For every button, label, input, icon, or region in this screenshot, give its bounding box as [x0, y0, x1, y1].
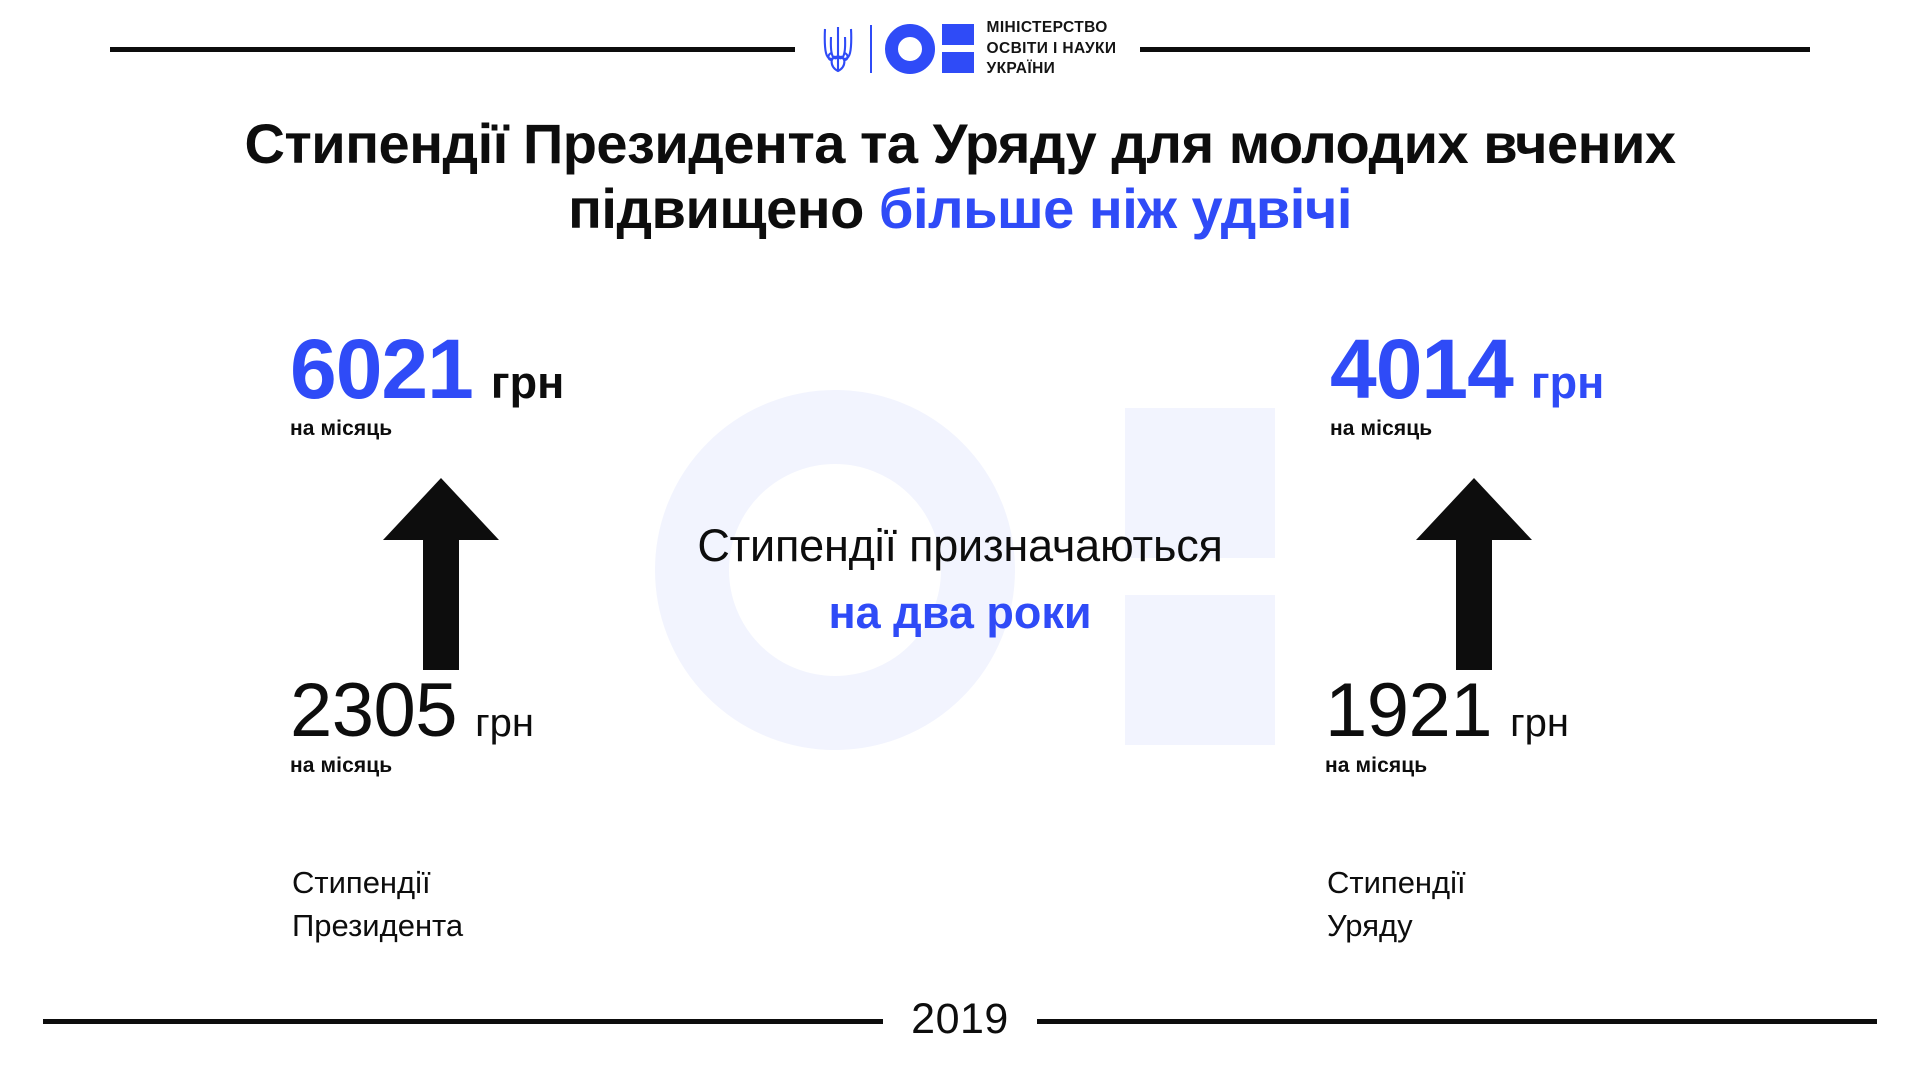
logo-ring-icon — [885, 24, 935, 74]
caption-president-line-1: Стипендії — [292, 862, 463, 905]
infographic-page: МІНІСТЕРСТВО ОСВІТИ І НАУКИ УКРАЇНИ Стип… — [0, 0, 1920, 1080]
ukraine-trident-icon — [819, 23, 857, 75]
center-note-line-1: Стипендії призначаються — [480, 518, 1440, 574]
old-amount-unit-left: грн — [475, 701, 534, 746]
new-amount-period-left: на місяць — [290, 417, 850, 441]
column-president-old-value: 2305 грн на місяць — [290, 675, 534, 778]
title-line-1: Стипендії Президента та Уряду для молоди… — [0, 112, 1920, 177]
logo-text-line-1: МІНІСТЕРСТВО — [987, 18, 1117, 39]
old-amount-unit-right: грн — [1510, 701, 1569, 746]
footer: 2019 — [0, 1000, 1920, 1043]
title-line-2: підвищено більше ніж удвічі — [0, 177, 1920, 242]
header-rule-left — [110, 47, 795, 52]
caption-government: Стипендії Уряду — [1327, 862, 1466, 948]
center-note-line-2: на два роки — [480, 584, 1440, 643]
logo-divider — [870, 25, 872, 73]
new-amount-left: 6021 — [290, 330, 473, 410]
header: МІНІСТЕРСТВО ОСВІТИ І НАУКИ УКРАЇНИ — [0, 0, 1920, 98]
caption-government-line-1: Стипендії — [1327, 862, 1466, 905]
mon-logo: МІНІСТЕРСТВО ОСВІТИ І НАУКИ УКРАЇНИ — [795, 18, 1141, 80]
logo-bars-icon — [942, 24, 974, 73]
old-amount-row-right: 1921 грн — [1325, 675, 1569, 747]
old-amount-period-left: на місяць — [290, 754, 534, 778]
mon-logo-text: МІНІСТЕРСТВО ОСВІТИ І НАУКИ УКРАЇНИ — [987, 18, 1117, 80]
logo-text-line-2: ОСВІТИ І НАУКИ — [987, 39, 1117, 60]
caption-president: Стипендії Президента — [292, 862, 463, 948]
logo-text-line-3: УКРАЇНИ — [987, 59, 1117, 80]
logo-bar-bottom-icon — [942, 52, 974, 73]
title-line-2-accent: більше ніж удвічі — [879, 177, 1352, 240]
new-amount-row-left: 6021 грн — [290, 330, 850, 410]
footer-rule-left — [43, 1019, 883, 1024]
footer-rule-right — [1037, 1019, 1877, 1024]
logo-bar-top-icon — [942, 24, 974, 45]
center-note: Стипендії призначаються на два роки — [480, 518, 1440, 643]
caption-government-line-2: Уряду — [1327, 905, 1466, 948]
new-amount-right: 4014 — [1330, 330, 1513, 410]
new-amount-period-right: на місяць — [1330, 417, 1830, 441]
caption-president-line-2: Президента — [292, 905, 463, 948]
mon-logo-mark-icon — [885, 24, 974, 74]
new-amount-row-right: 4014 грн — [1330, 330, 1830, 410]
column-government-old-value: 1921 грн на місяць — [1325, 675, 1569, 778]
old-amount-left: 2305 — [290, 675, 457, 747]
title-line-2-prefix: підвищено — [568, 177, 879, 240]
page-title: Стипендії Президента та Уряду для молоди… — [0, 112, 1920, 242]
column-government-new-value: 4014 грн на місяць — [1330, 330, 1830, 441]
column-president-new-value: 6021 грн на місяць — [290, 330, 850, 441]
old-amount-period-right: на місяць — [1325, 754, 1569, 778]
header-rule-right — [1140, 47, 1810, 52]
footer-year: 2019 — [883, 998, 1037, 1041]
old-amount-right: 1921 — [1325, 675, 1492, 747]
new-amount-unit-left: грн — [491, 357, 564, 409]
new-amount-unit-right: грн — [1531, 357, 1604, 409]
old-amount-row-left: 2305 грн — [290, 675, 534, 747]
